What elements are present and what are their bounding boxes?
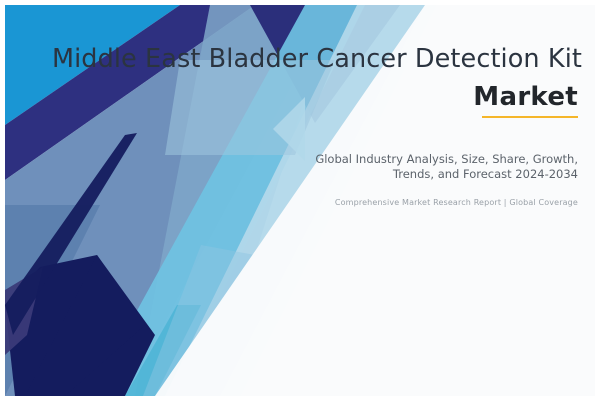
emphasis-title-group: Market (473, 84, 578, 118)
accent-underline (482, 116, 578, 118)
subtitle-line-2: Trends, and Forecast 2024-2034 (158, 167, 578, 182)
report-cover: Middle East Bladder Cancer Detection Kit… (0, 0, 600, 400)
emphasis-title: Market (473, 84, 578, 110)
tagline: Comprehensive Market Research Report | G… (158, 198, 578, 207)
page-title: Middle East Bladder Cancer Detection Kit (0, 44, 582, 74)
subtitle: Global Industry Analysis, Size, Share, G… (158, 152, 578, 182)
subtitle-line-1: Global Industry Analysis, Size, Share, G… (158, 152, 578, 167)
